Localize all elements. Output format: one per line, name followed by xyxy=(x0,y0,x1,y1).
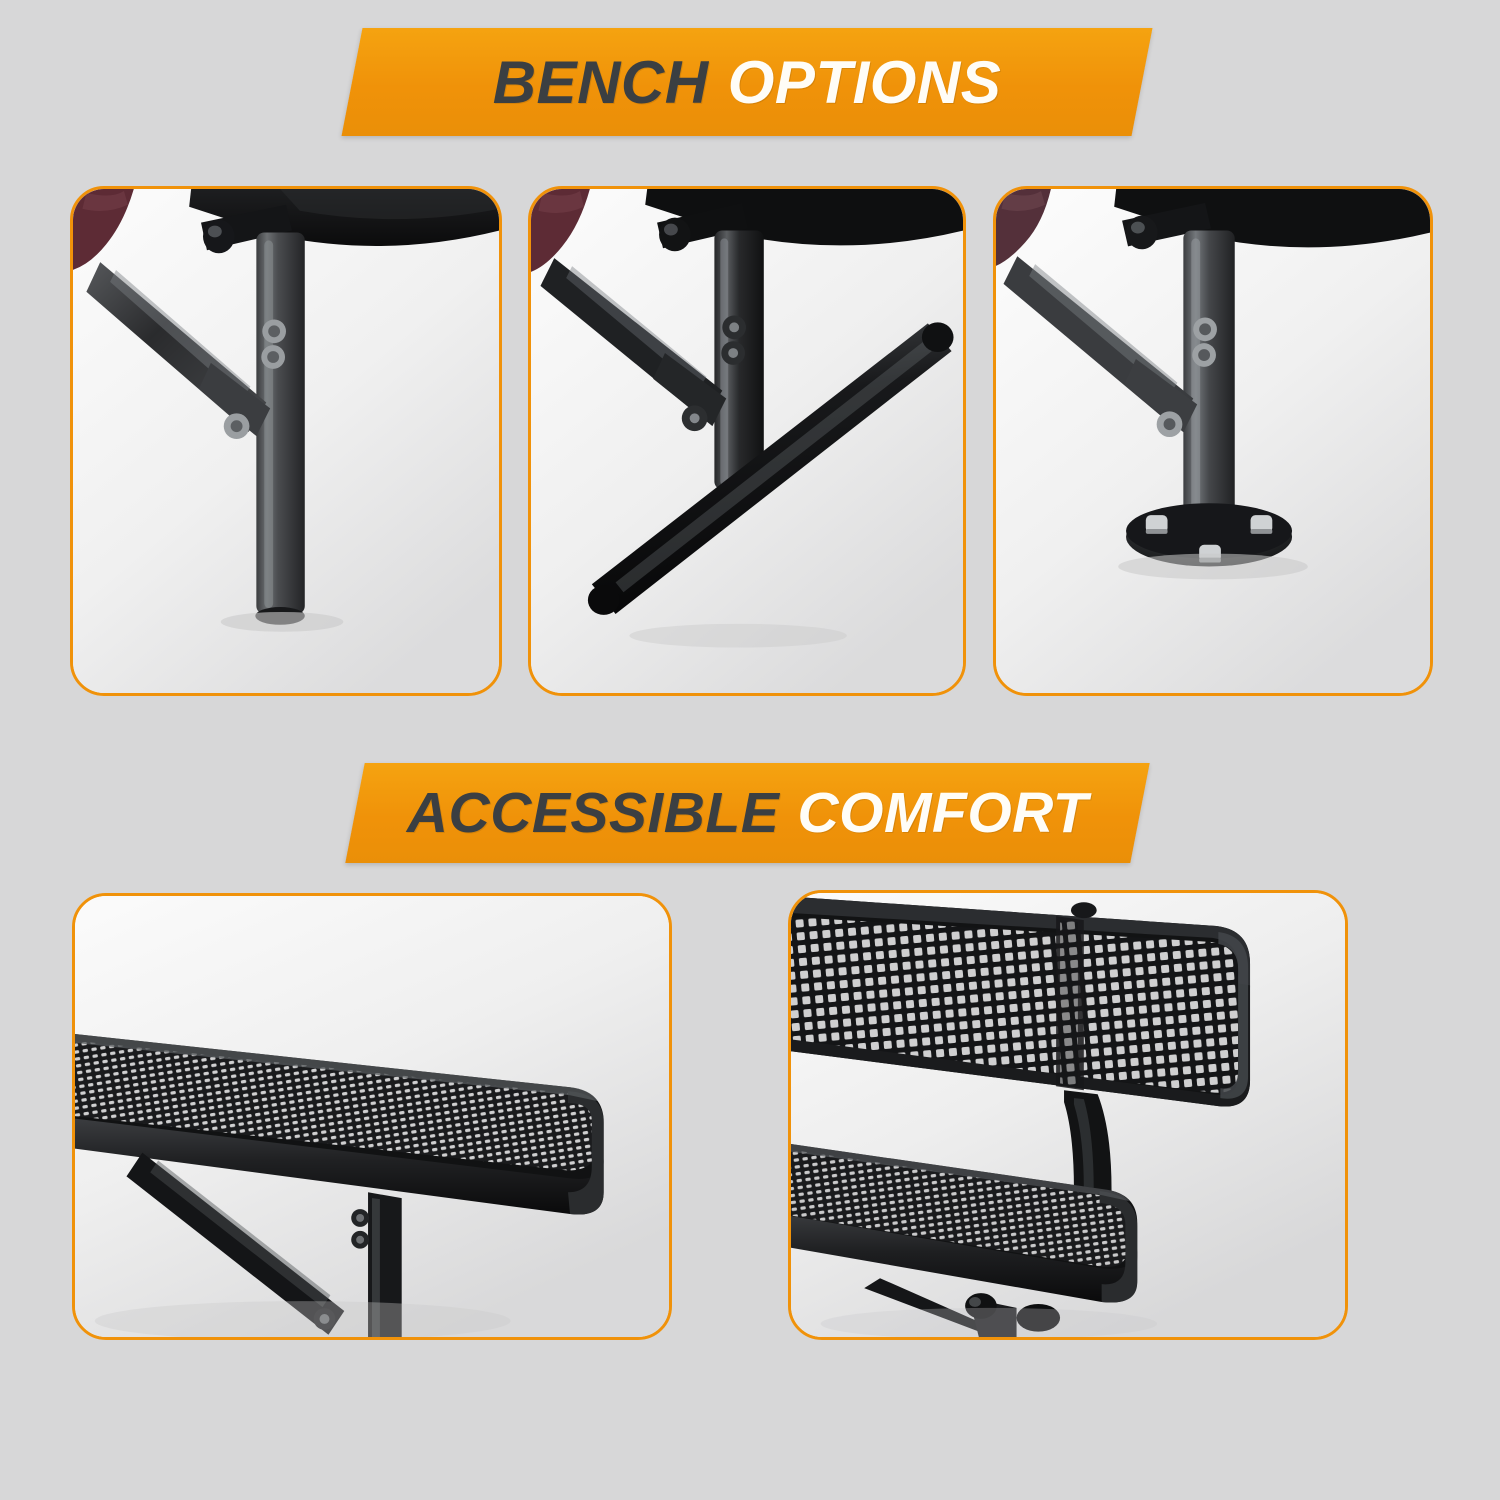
option-card-inground[interactable]: Available in Inground version xyxy=(70,186,502,696)
option-card-portable[interactable]: Available in Portable version xyxy=(528,186,966,696)
section-header-bench-options: BENCH OPTIONS xyxy=(342,28,1153,136)
bench-leg-surface-photo xyxy=(996,189,1430,693)
banner-dark-word: ACCESSIBLE xyxy=(407,780,779,846)
comfort-card-with-back[interactable]: With back xyxy=(788,890,1348,1340)
banner-dark-word: BENCH xyxy=(493,48,709,117)
section-header-accessible-comfort: ACCESSIBLE COMFORT xyxy=(345,763,1149,863)
bench-without-back-photo xyxy=(75,896,669,1337)
banner-light-word: OPTIONS xyxy=(728,48,1002,117)
banner-light-word: COMFORT xyxy=(798,780,1089,846)
infographic-page: BENCH OPTIONS xyxy=(0,0,1500,1500)
comfort-card-without-back[interactable]: Without back xyxy=(72,893,672,1340)
banner-text: BENCH OPTIONS xyxy=(352,28,1142,136)
bench-leg-portable-photo xyxy=(531,189,963,693)
banner-text: ACCESSIBLE COMFORT xyxy=(355,763,1140,863)
bench-with-back-photo xyxy=(791,893,1345,1337)
option-card-surface[interactable]: Available in Surface version xyxy=(993,186,1433,696)
bench-leg-inground-photo xyxy=(73,189,499,693)
